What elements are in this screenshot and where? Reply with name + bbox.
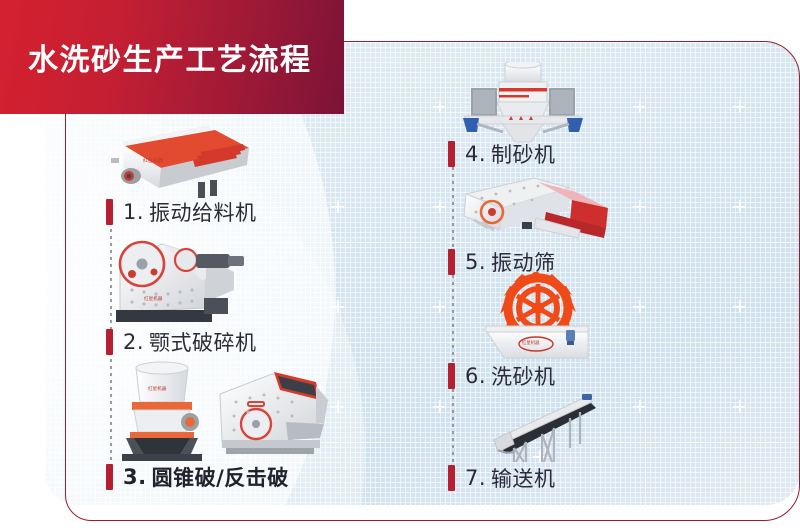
step-index-7: 7.: [465, 466, 486, 490]
step-index-4: 4.: [465, 142, 486, 166]
step-title-2: 颚式破碎机: [149, 327, 257, 357]
machine-image-sand-making-machine: [455, 62, 591, 144]
step-label-5[interactable]: 5. 振动筛: [448, 247, 556, 277]
step-label-3[interactable]: 3. 圆锥破/反击破: [106, 462, 289, 492]
step-marker-bar: [448, 363, 455, 389]
svg-text:红星机器: 红星机器: [148, 385, 167, 392]
step-title-4: 制砂机: [491, 139, 556, 169]
step-title-1: 振动给料机: [149, 197, 257, 227]
step-title-6: 洗砂机: [491, 361, 556, 391]
page-title: 水洗砂生产工艺流程: [28, 35, 312, 79]
svg-text:红星机器: 红星机器: [143, 157, 163, 164]
step-marker-bar: [448, 249, 455, 275]
step-label-4[interactable]: 4. 制砂机: [448, 139, 556, 169]
machine-image-impact-crusher: [212, 366, 336, 462]
machine-image-sand-washer: 红星机器: [482, 272, 592, 362]
flow-connector-left: [110, 222, 112, 338]
step-label-2[interactable]: 2. 颚式破碎机: [106, 327, 257, 357]
step-marker-bar: [448, 465, 455, 491]
machine-image-vibrating-feeder: 红星机器: [103, 118, 253, 200]
flow-connector-right: [452, 389, 454, 474]
machine-image-vibrating-screen: [460, 172, 610, 248]
step-index-1: 1.: [123, 200, 144, 224]
step-index-3: 3.: [123, 465, 147, 489]
infographic-canvas: 红星机器: [0, 0, 800, 530]
step-label-1[interactable]: 1. 振动给料机: [106, 197, 257, 227]
flow-connector-left: [110, 352, 112, 470]
machine-image-jaw-crusher: 红星机器: [110, 228, 258, 328]
step-marker-bar: [448, 141, 455, 167]
title-banner: 水洗砂生产工艺流程: [0, 0, 344, 114]
step-marker-bar: [106, 199, 113, 225]
machine-image-cone-crusher: 红星机器: [110, 358, 214, 462]
step-index-5: 5.: [465, 250, 486, 274]
step-label-7[interactable]: 7. 输送机: [448, 463, 556, 493]
svg-text:红星机器: 红星机器: [144, 295, 163, 302]
machine-image-belt-conveyor: [492, 392, 602, 464]
step-marker-bar: [106, 464, 113, 490]
step-marker-bar: [106, 329, 113, 355]
step-label-6[interactable]: 6. 洗砂机: [448, 361, 556, 391]
step-index-6: 6.: [465, 364, 486, 388]
svg-text:红星机器: 红星机器: [522, 339, 540, 346]
flow-connector-right: [452, 275, 454, 370]
step-title-5: 振动筛: [491, 247, 556, 277]
step-title-3: 圆锥破/反击破: [152, 462, 289, 492]
step-index-2: 2.: [123, 330, 144, 354]
step-title-7: 输送机: [491, 463, 556, 493]
